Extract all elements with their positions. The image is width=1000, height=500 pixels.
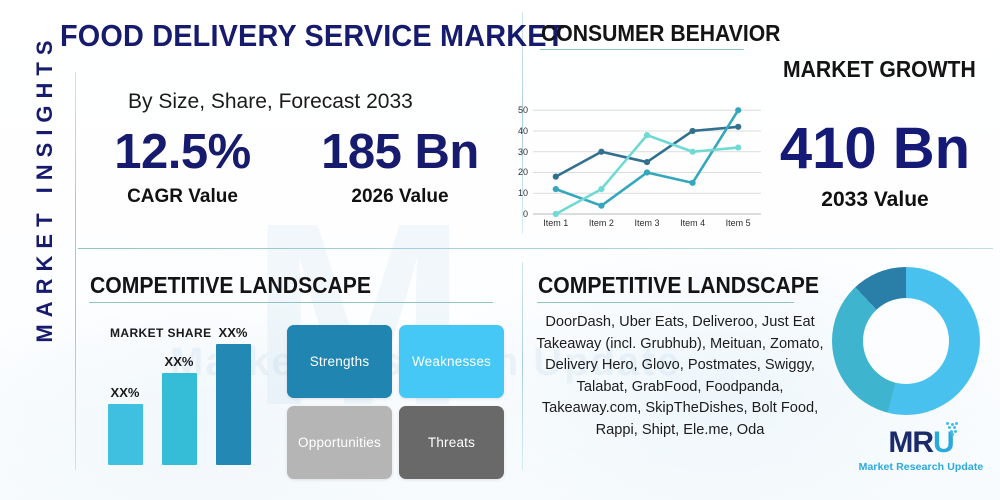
swot-label-weaknesses: Weaknesses xyxy=(412,354,491,369)
y-axis-tick-label: 0 xyxy=(523,209,528,219)
line-point xyxy=(598,186,604,192)
competitive-share-donut xyxy=(832,267,980,415)
line-point xyxy=(690,128,696,134)
bar-label-1: XX% xyxy=(111,385,140,400)
bar-1 xyxy=(108,404,143,465)
x-axis-tick-label: Item 5 xyxy=(726,218,751,228)
line-chart-svg xyxy=(533,104,761,214)
kpi-cagr: 12.5% CAGR Value xyxy=(95,128,270,208)
page-title: FOOD DELIVERY SERVICE MARKET xyxy=(60,18,564,54)
y-axis-tick-label: 10 xyxy=(518,188,528,198)
market-share-bar-chart: XX%XX%XX% xyxy=(100,330,260,465)
logo-letter-m: M xyxy=(888,426,912,459)
swot-box-strengths[interactable]: Strengths xyxy=(287,325,392,398)
mru-logo[interactable]: MRU Market Research Update xyxy=(855,428,987,473)
line-point xyxy=(598,203,604,209)
line-point xyxy=(553,211,559,217)
competitive-right-rule xyxy=(537,302,794,303)
mru-logo-mark: MRU xyxy=(888,428,953,458)
consumer-behavior-rule xyxy=(540,49,744,50)
line-series-2 xyxy=(556,110,738,205)
y-axis-tick-label: 50 xyxy=(518,105,528,115)
company-list: DoorDash, Uber Eats, Deliveroo, Just Eat… xyxy=(535,312,825,442)
line-point xyxy=(553,174,559,180)
donut-hole xyxy=(863,298,949,384)
x-axis-tick-label: Item 1 xyxy=(543,218,568,228)
left-vertical-divider xyxy=(75,72,76,470)
logo-droplet-icon xyxy=(946,422,958,435)
market-growth-kpi: 410 Bn 2033 Value xyxy=(770,120,980,212)
swot-box-weaknesses[interactable]: Weaknesses xyxy=(399,325,504,398)
bar-label-3: XX% xyxy=(219,325,248,340)
x-axis-tick-label: Item 2 xyxy=(589,218,614,228)
section-heading-market-growth: MARKET GROWTH xyxy=(783,56,976,83)
x-axis-tick-label: Item 4 xyxy=(680,218,705,228)
consumer-behavior-line-chart: 01020304050Item 1Item 2Item 3Item 4Item … xyxy=(533,104,761,214)
y-axis-tick-label: 30 xyxy=(518,147,528,157)
market-growth-caption: 2033 Value xyxy=(770,188,980,212)
y-axis-tick-label: 20 xyxy=(518,167,528,177)
bar-3 xyxy=(216,344,251,466)
line-point xyxy=(644,169,650,175)
swot-box-threats[interactable]: Threats xyxy=(399,406,504,479)
line-point xyxy=(598,149,604,155)
competitive-left-rule xyxy=(89,302,493,303)
line-point xyxy=(644,132,650,138)
swot-label-opportunities: Opportunities xyxy=(298,435,381,450)
mru-logo-tagline: Market Research Update xyxy=(855,461,987,473)
line-point xyxy=(690,149,696,155)
logo-letter-r: R xyxy=(912,426,933,459)
line-point xyxy=(735,124,741,130)
page-subtitle: By Size, Share, Forecast 2033 xyxy=(128,90,413,114)
kpi-2026-value-number: 185 Bn xyxy=(300,128,500,177)
infographic-canvas: M Market Research Update MARKET INSIGHTS… xyxy=(0,0,1000,500)
section-heading-consumer-behavior: CONSUMER BEHAVIOR xyxy=(541,20,780,47)
y-axis-tick-label: 40 xyxy=(518,126,528,136)
section-heading-competitive-landscape-left: COMPETITIVE LANDSCAPE xyxy=(90,272,371,299)
x-axis-tick-label: Item 3 xyxy=(634,218,659,228)
line-point xyxy=(735,144,741,150)
swot-box-opportunities[interactable]: Opportunities xyxy=(287,406,392,479)
bar-label-2: XX% xyxy=(165,354,194,369)
line-point xyxy=(735,107,741,113)
horizontal-divider xyxy=(78,248,993,249)
line-point xyxy=(690,180,696,186)
bar-2 xyxy=(162,373,197,465)
kpi-cagr-value: 12.5% xyxy=(95,128,270,177)
line-point xyxy=(553,186,559,192)
side-label-market-insights: MARKET INSIGHTS xyxy=(32,0,58,403)
kpi-cagr-caption: CAGR Value xyxy=(95,186,270,208)
market-growth-value: 410 Bn xyxy=(770,120,980,178)
swot-label-threats: Threats xyxy=(428,435,475,450)
section-heading-competitive-landscape-right: COMPETITIVE LANDSCAPE xyxy=(538,272,819,299)
kpi-2026-value: 185 Bn 2026 Value xyxy=(300,128,500,208)
kpi-2026-value-caption: 2026 Value xyxy=(300,186,500,208)
bottom-center-vertical-divider xyxy=(522,262,523,470)
swot-label-strengths: Strengths xyxy=(310,354,370,369)
line-point xyxy=(644,159,650,165)
